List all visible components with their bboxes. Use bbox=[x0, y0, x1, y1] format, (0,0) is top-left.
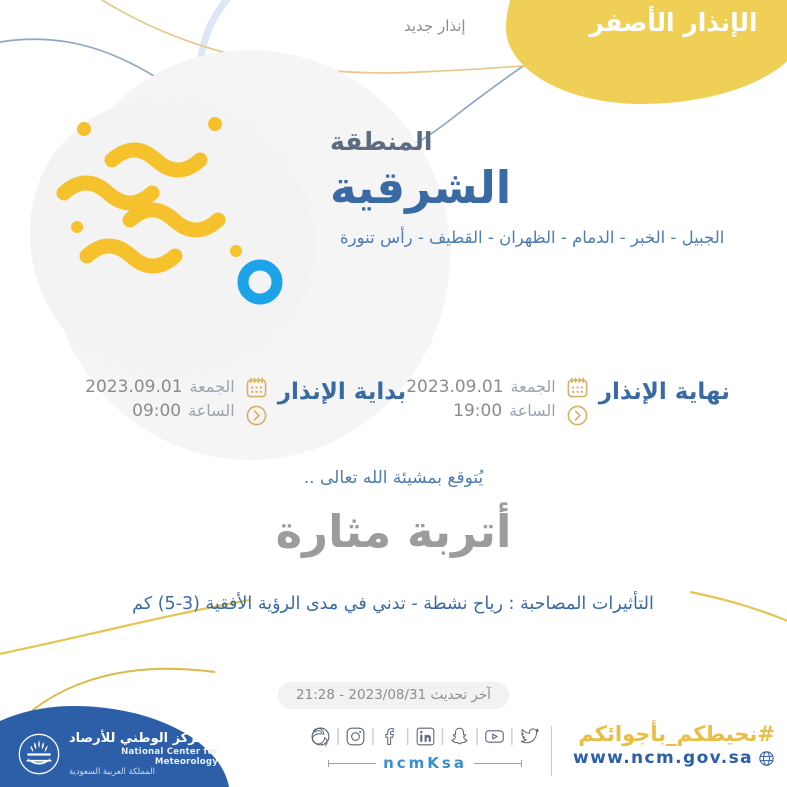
alert-end-date-line: الجمعة 2023.09.01 bbox=[406, 377, 556, 397]
calendar-icon bbox=[566, 376, 589, 399]
alert-end-date: 2023.09.01 bbox=[406, 377, 503, 397]
saudi-emblem-icon bbox=[18, 733, 60, 775]
alert-end-block: نهاية الإنذار الجمعة 2 bbox=[406, 372, 730, 427]
footer-divider bbox=[551, 726, 552, 776]
alert-end-title: نهاية الإنذار bbox=[599, 372, 730, 405]
brand-url-row[interactable]: www.ncm.gov.sa bbox=[573, 748, 775, 768]
region-name: الشرقية bbox=[330, 161, 760, 215]
ncm-logo-arabic: المركز الوطني للأرصاد bbox=[69, 731, 214, 746]
ncm-logo: المركز الوطني للأرصاد National Center fo… bbox=[18, 727, 218, 781]
social-separator: | bbox=[405, 728, 411, 745]
threads-icon[interactable] bbox=[310, 726, 331, 747]
facebook-icon[interactable] bbox=[380, 726, 401, 747]
social-separator: | bbox=[474, 728, 480, 745]
brand-hashtag: #نحيطكم_بأجوائكم bbox=[578, 722, 775, 746]
globe-icon bbox=[758, 750, 775, 767]
alert-start-time-line: الساعة 09:00 bbox=[132, 401, 235, 421]
chevron-circle-icon bbox=[245, 404, 268, 427]
forecast-effects: التأثيرات المصاحبة : رياح نشطة - تدني في… bbox=[93, 588, 693, 620]
ncm-logo-kingdom: المملكة العربية السعودية bbox=[69, 767, 155, 777]
alert-end-time-label: الساعة bbox=[509, 401, 556, 420]
social-separator: | bbox=[440, 728, 446, 745]
social-handle: ncmKsa bbox=[383, 754, 467, 772]
brand-block: #نحيطكم_بأجوائكم www.ncm.gov.sa bbox=[560, 722, 775, 768]
youtube-icon[interactable] bbox=[484, 726, 505, 747]
alert-start-time-label: الساعة bbox=[188, 401, 235, 420]
snapchat-icon[interactable] bbox=[449, 726, 470, 747]
linkedin-icon[interactable] bbox=[415, 726, 436, 747]
last-update-text: آخر تحديث 2023/08/31 - 21:28 bbox=[278, 682, 509, 709]
brand-url[interactable]: www.ncm.gov.sa bbox=[573, 748, 753, 768]
alert-period-row: نهاية الإنذار الجمعة 2 bbox=[0, 372, 787, 447]
handle-rule-right bbox=[328, 763, 376, 764]
alert-card: الإنذار الأصفر إنذار جديد المنطقة الشرقي… bbox=[0, 0, 787, 787]
social-separator: | bbox=[509, 728, 515, 745]
social-icon-row: | | | | | bbox=[310, 726, 539, 747]
chevron-circle-icon bbox=[566, 404, 589, 427]
alert-end-day-label: الجمعة bbox=[511, 377, 556, 396]
region-kicker: المنطقة bbox=[330, 128, 760, 157]
handle-rule-left bbox=[474, 763, 522, 764]
twitter-icon[interactable] bbox=[519, 726, 540, 747]
ncm-logo-english: National Center for Meteorology bbox=[69, 747, 218, 767]
instagram-icon[interactable] bbox=[345, 726, 366, 747]
last-update-pill: آخر تحديث 2023/08/31 - 21:28 bbox=[0, 682, 787, 709]
alert-end-values: الجمعة 2023.09.01 الساعة 19:00 bbox=[406, 372, 556, 421]
alert-level-label: الإنذار الأصفر bbox=[566, 8, 781, 37]
dust-storm-illustration bbox=[22, 88, 322, 383]
forecast-intro: يُتوقع بمشيئة الله تعالى .. bbox=[0, 468, 787, 488]
region-block: المنطقة الشرقية الجبيل - الخبر - الدمام … bbox=[330, 128, 760, 251]
ncm-logo-text: المركز الوطني للأرصاد National Center fo… bbox=[69, 731, 218, 777]
social-separator: | bbox=[335, 728, 341, 745]
alert-start-time: 09:00 bbox=[132, 401, 181, 421]
social-separator: | bbox=[370, 728, 376, 745]
forecast-phenomenon: أتربة مثارة bbox=[0, 505, 787, 558]
social-handle-row: ncmKsa bbox=[328, 754, 522, 772]
alert-end-icons bbox=[566, 372, 589, 427]
alert-end-time-line: الساعة 19:00 bbox=[453, 401, 556, 421]
alert-end-time: 19:00 bbox=[453, 401, 502, 421]
region-cities: الجبيل - الخبر - الدمام - الظهران - القط… bbox=[340, 225, 760, 251]
social-links: | | | | | bbox=[300, 726, 550, 772]
